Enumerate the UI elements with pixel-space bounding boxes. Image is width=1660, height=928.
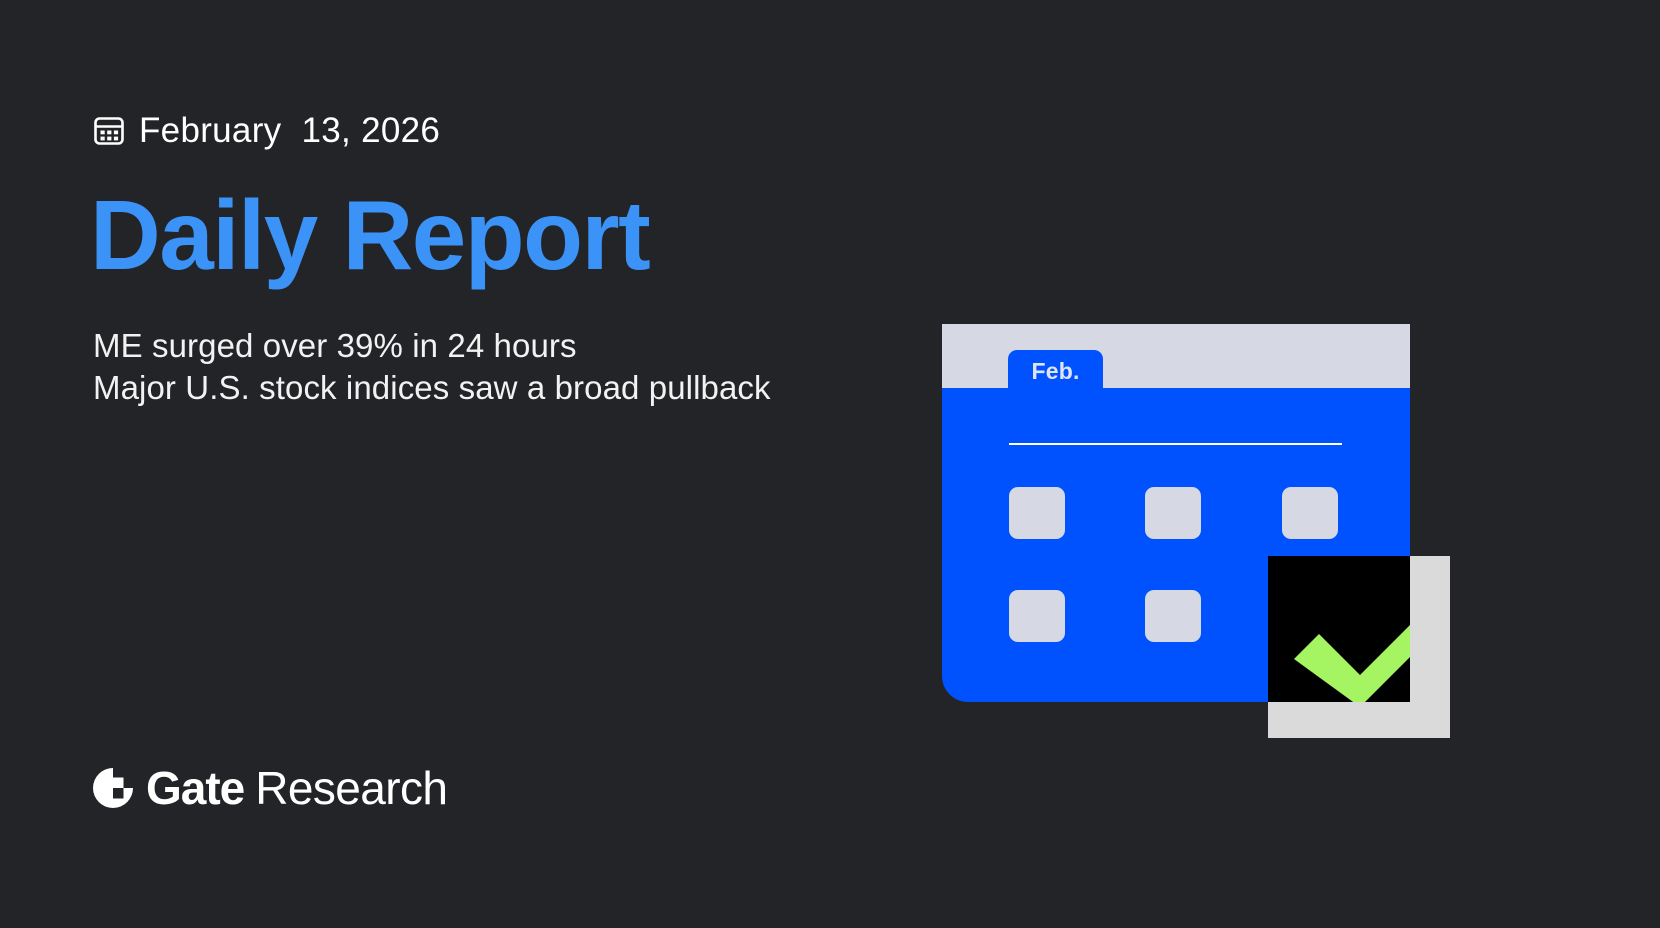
gate-logo-mark-icon xyxy=(93,768,133,808)
page-title: Daily Report xyxy=(90,181,649,291)
calendar-month-label: Feb. xyxy=(1031,360,1079,383)
logo-gate-text: Gate xyxy=(146,765,244,811)
check-badge xyxy=(1268,556,1410,702)
gate-research-logo: Gate Research xyxy=(93,760,447,816)
logo-wordmark: Gate Research xyxy=(146,765,447,811)
calendar-cell xyxy=(1145,487,1201,539)
subtitle-line-1: ME surged over 39% in 24 hours xyxy=(93,325,771,367)
report-date: February 13, 2026 xyxy=(139,113,440,148)
calendar-divider-line xyxy=(1009,443,1342,445)
calendar-cell xyxy=(1145,590,1201,642)
subtitle-block: ME surged over 39% in 24 hours Major U.S… xyxy=(93,325,771,409)
calendar-cell xyxy=(1009,590,1065,642)
calendar-cell xyxy=(1282,487,1338,539)
logo-research-text: Research xyxy=(255,765,447,811)
calendar-illustration: Feb. xyxy=(942,324,1462,744)
subtitle-line-2: Major U.S. stock indices saw a broad pul… xyxy=(93,367,771,409)
date-row: February 13, 2026 xyxy=(93,108,440,152)
check-icon xyxy=(1268,556,1410,702)
calendar-icon xyxy=(93,114,125,146)
calendar-cell xyxy=(1009,487,1065,539)
calendar-month-tab: Feb. xyxy=(1008,350,1103,392)
